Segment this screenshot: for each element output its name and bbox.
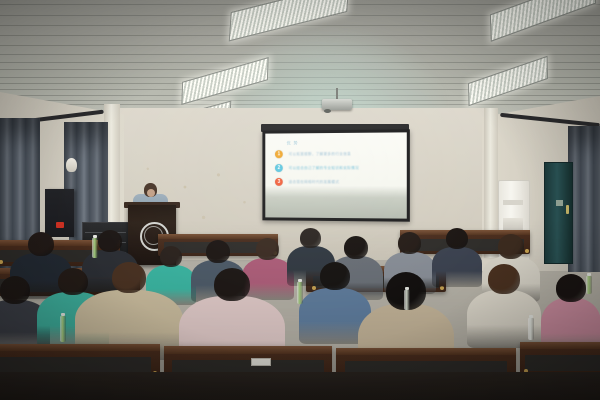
lecture-hall-photo: 优 势 1可以拓宽视野，了解更多的行业信息2可以结合自己了解的专业知识和实际情况… xyxy=(0,0,600,400)
bottle-cap-icon xyxy=(61,313,65,316)
bench-rail xyxy=(164,346,332,354)
slide-title: 优 势 xyxy=(287,140,399,147)
water-bottle-5 xyxy=(528,318,534,340)
door-handle-icon[interactable] xyxy=(566,205,569,214)
attendee-head xyxy=(112,262,146,293)
water-bottle-6 xyxy=(586,276,592,294)
screen-surface: 优 势 1可以拓宽视野，了解更多的行业信息2可以结合自己了解的专业知识和实际情况… xyxy=(265,132,406,218)
air-conditioner-vent-icon xyxy=(503,218,523,230)
slide-bullet-number-icon: 1 xyxy=(275,150,283,158)
attendee-head xyxy=(488,264,520,294)
jbl-logo-icon xyxy=(56,222,64,228)
water-bottle-2 xyxy=(92,238,98,258)
attendee-head xyxy=(58,268,88,295)
attendee-torso xyxy=(432,247,482,287)
bench-knob-icon xyxy=(525,249,529,253)
attendee-head xyxy=(206,240,230,263)
attendee-head xyxy=(28,232,54,256)
air-conditioner-panel xyxy=(503,200,523,205)
slide-bullet-3: 3适合现在网络时代的发展模式 xyxy=(275,178,399,186)
bottle-cap-icon xyxy=(405,287,409,290)
slide-bullet-text: 可以拓宽视野，了解更多的行业信息 xyxy=(289,151,351,156)
jbl-loudspeaker xyxy=(45,189,74,237)
projector-lens-icon xyxy=(324,109,331,113)
bench-rail xyxy=(336,348,516,355)
door-plate xyxy=(556,200,563,206)
bench-knob-icon xyxy=(0,260,3,264)
floor xyxy=(0,372,600,400)
wall-lamp-icon xyxy=(66,158,77,172)
bottle-cap-icon xyxy=(587,273,591,276)
attendee-head xyxy=(556,274,586,302)
presenter-face xyxy=(147,189,155,197)
attendee-head xyxy=(320,262,350,290)
attendee-head xyxy=(398,232,421,254)
attendee-head xyxy=(160,246,182,267)
bench-pad xyxy=(0,357,151,373)
presentation-slide: 优 势 1可以拓宽视野，了解更多的行业信息2可以结合自己了解的专业知识和实际情况… xyxy=(265,132,406,198)
attendee-head xyxy=(498,234,524,259)
attendee-head xyxy=(256,238,279,260)
water-bottle-4 xyxy=(404,290,410,310)
bottle-cap-icon xyxy=(93,235,97,238)
attendee-head xyxy=(0,276,30,304)
slide-bullet-1: 1可以拓宽视野，了解更多的行业信息 xyxy=(275,150,399,159)
bench-pad xyxy=(525,355,600,371)
attendee-head xyxy=(344,236,368,259)
slide-bullet-list: 1可以拓宽视野，了解更多的行业信息2可以结合自己了解的专业知识和实际情况3适合现… xyxy=(273,150,399,186)
projection-screen[interactable]: 优 势 1可以拓宽视野，了解更多的行业信息2可以结合自己了解的专业知识和实际情况… xyxy=(262,129,409,221)
bench-rail xyxy=(0,344,160,351)
attendee-head xyxy=(214,268,250,301)
bench-rail xyxy=(520,342,600,349)
water-bottle-1 xyxy=(60,316,66,342)
water-bottle-3 xyxy=(297,282,303,304)
attendee-head xyxy=(300,228,321,248)
bottle-cap-icon xyxy=(529,315,533,318)
bench-seat-plate xyxy=(251,358,271,366)
bottle-cap-icon xyxy=(298,279,302,282)
slide-bullet-2: 2可以结合自己了解的专业知识和实际情况 xyxy=(275,164,399,172)
attendee-head xyxy=(446,228,468,249)
bench-row-9 xyxy=(520,342,600,376)
slide-bullet-text: 适合现在网络时代的发展模式 xyxy=(289,179,340,184)
slide-bullet-number-icon: 3 xyxy=(275,178,283,186)
slide-bullet-number-icon: 2 xyxy=(275,164,283,172)
attendee-head xyxy=(98,230,122,252)
bench-rail xyxy=(158,234,278,239)
slide-bullet-text: 可以结合自己了解的专业知识和实际情况 xyxy=(289,165,359,170)
